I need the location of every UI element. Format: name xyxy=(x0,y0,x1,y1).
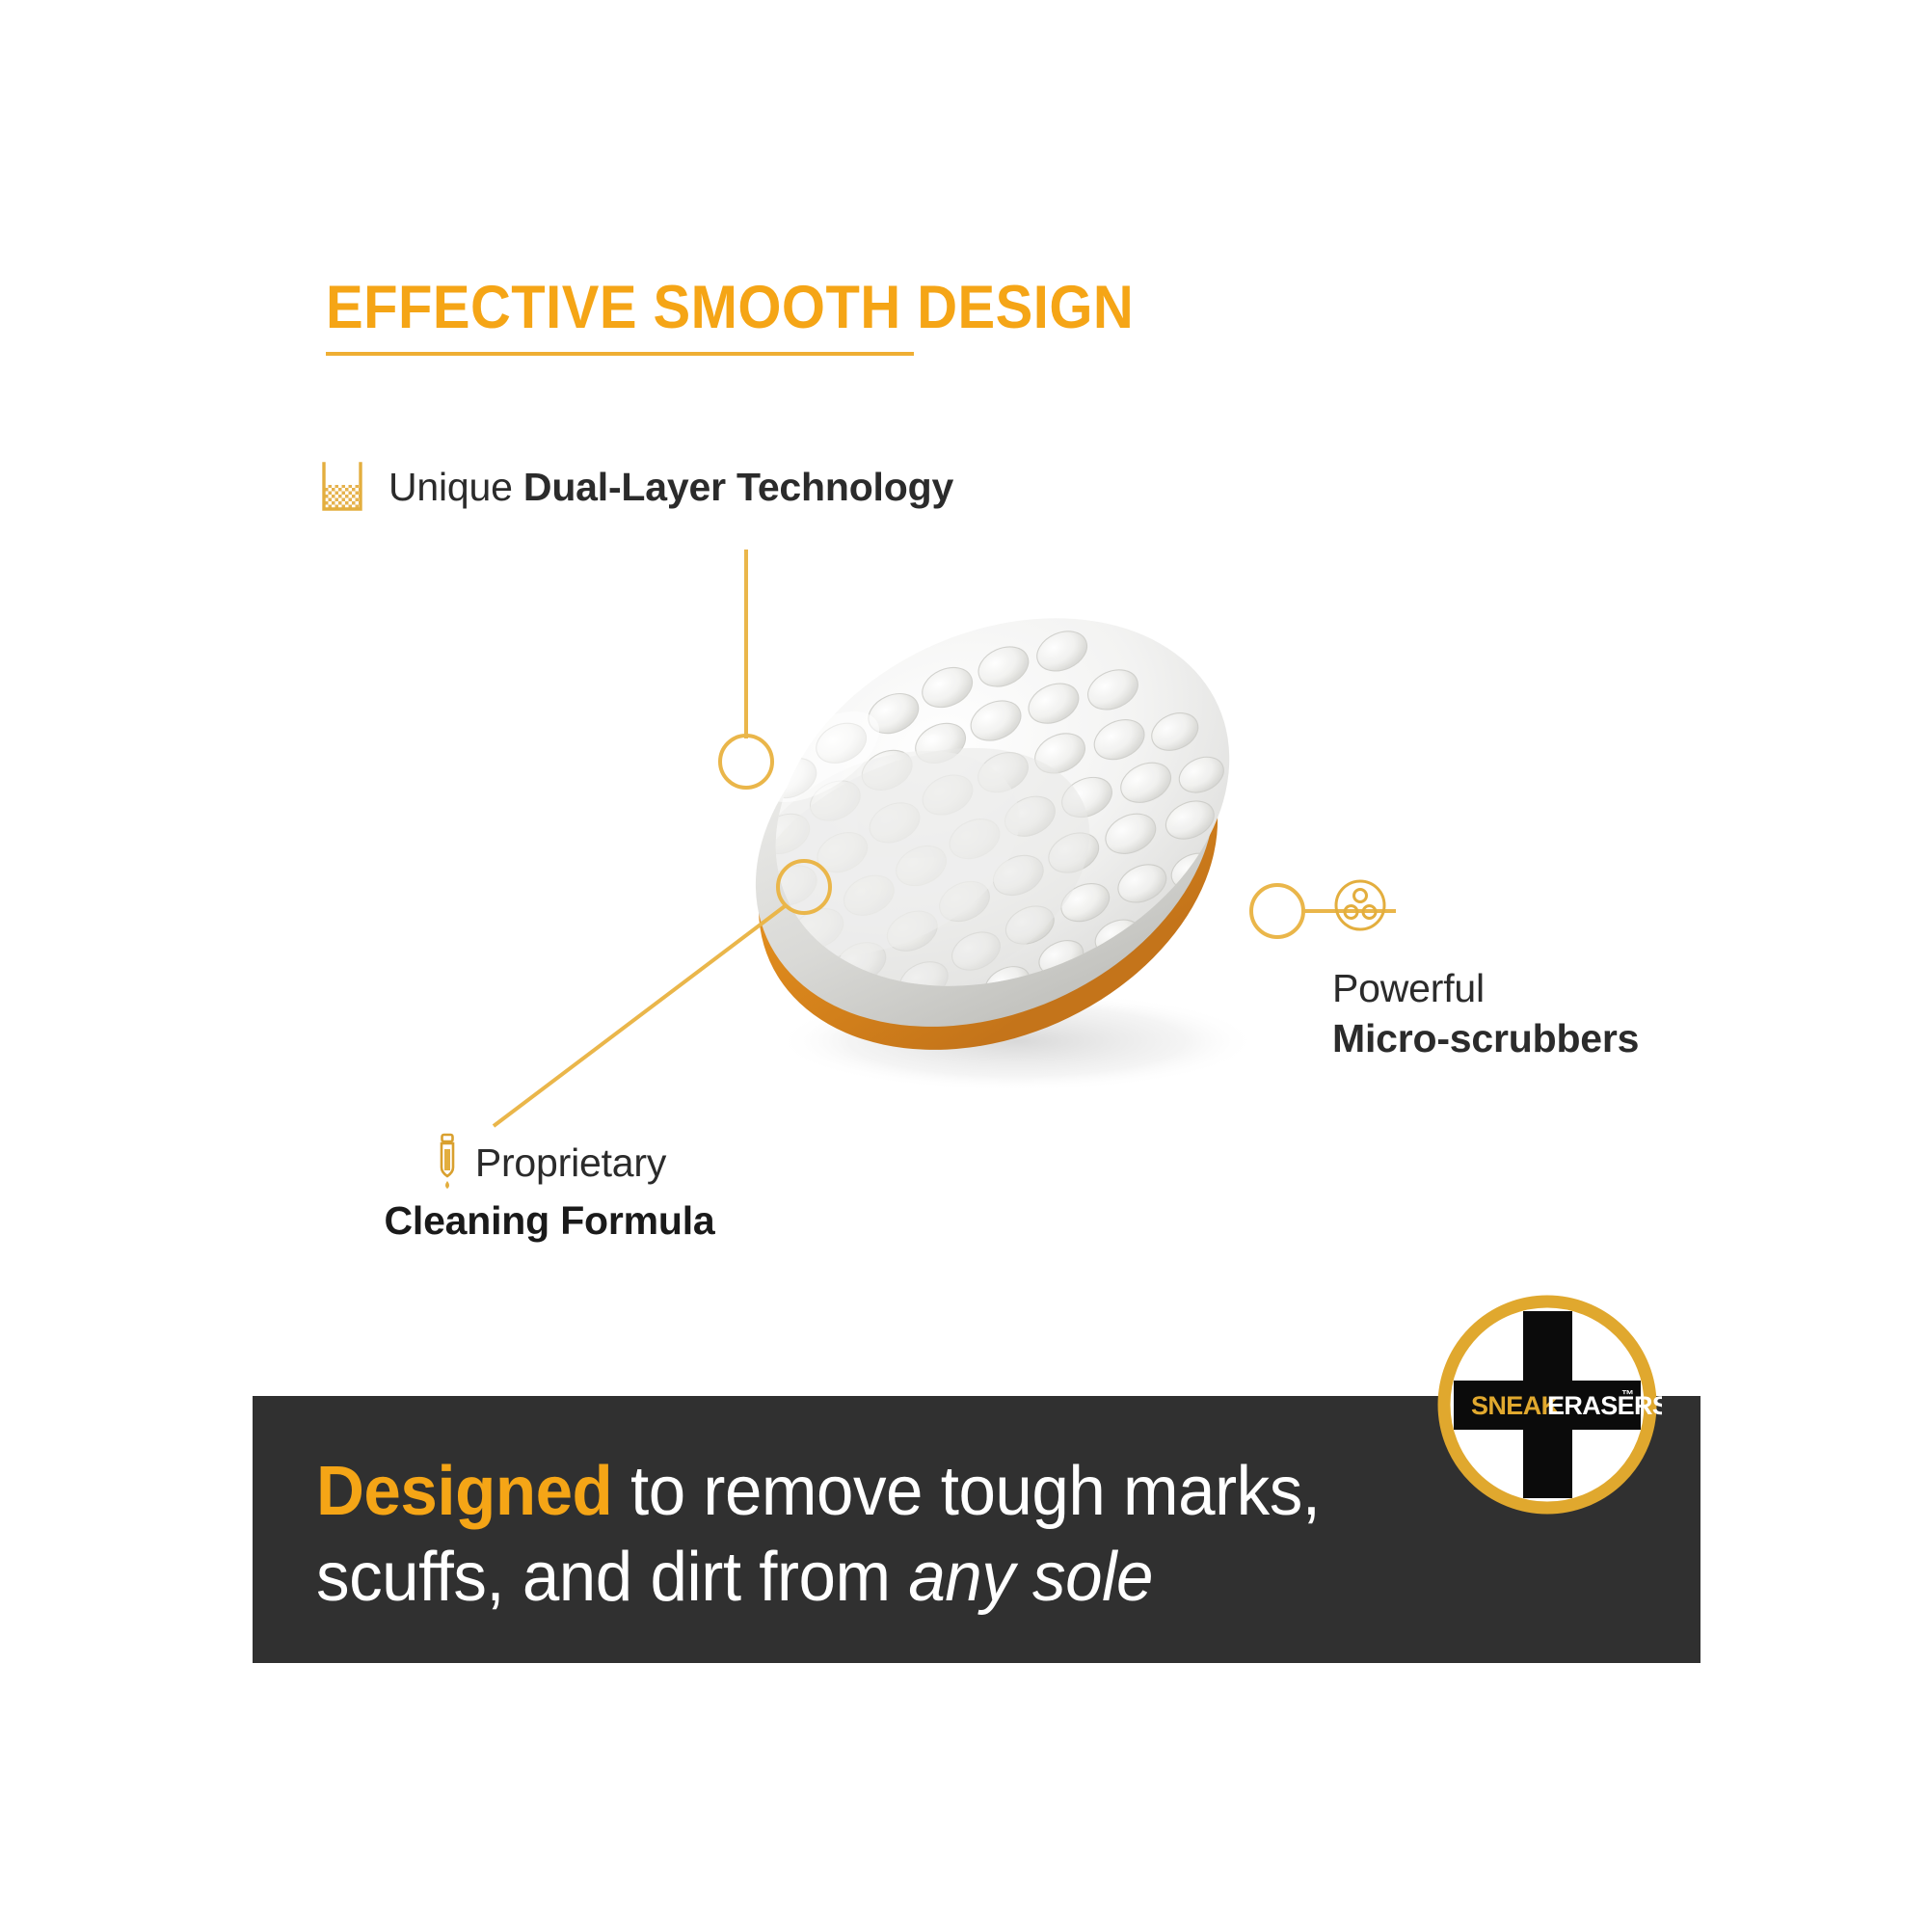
feature-formula-bold: Cleaning Formula xyxy=(347,1198,752,1244)
bubbles-circle-icon xyxy=(1332,877,1388,933)
tagline-line1-rest: to remove tough marks, xyxy=(612,1453,1320,1530)
tagline-line2-italic: any sole xyxy=(908,1539,1153,1616)
feature-micro-scrubbers: Powerful Micro-scrubbers xyxy=(1332,877,1718,1064)
tagline-highlight: Designed xyxy=(316,1453,612,1530)
feature-cleaning-formula: Proprietary Cleaning Formula xyxy=(347,1133,752,1244)
connector-formula xyxy=(494,906,785,1126)
anchor-ring-dual-layer xyxy=(720,736,772,788)
anchor-ring-formula xyxy=(778,861,830,913)
feature-formula-plain: Proprietary xyxy=(475,1140,666,1186)
tagline-line2-start: scuffs, and dirt from xyxy=(316,1539,908,1616)
infographic-page: EFFECTIVE SMOOTH DESIGN xyxy=(0,0,1928,1932)
feature-dual-layer-label: Unique Dual-Layer Technology xyxy=(388,465,953,510)
headline-underline xyxy=(326,352,914,356)
feature-micro-scrubbers-label: Powerful Micro-scrubbers xyxy=(1332,963,1718,1064)
feature-dual-layer: Unique Dual-Layer Technology xyxy=(318,461,953,513)
dropper-icon xyxy=(433,1133,462,1193)
logo-trademark: ™ xyxy=(1621,1387,1634,1402)
beaker-checker-icon xyxy=(318,461,366,513)
anchor-ring-micro xyxy=(1251,885,1303,937)
tagline-text: Designed to remove tough marks, scuffs, … xyxy=(316,1449,1455,1622)
page-title: EFFECTIVE SMOOTH DESIGN xyxy=(326,278,1134,338)
feature-dual-layer-plain: Unique xyxy=(388,465,523,509)
product-image xyxy=(675,588,1311,1128)
feature-micro-bold: Micro-scrubbers xyxy=(1332,1013,1718,1063)
feature-dual-layer-bold: Dual-Layer Technology xyxy=(523,465,953,509)
logo-word-white: ERASERS xyxy=(1547,1391,1662,1420)
feature-micro-plain: Powerful xyxy=(1332,963,1718,1013)
headline-block: EFFECTIVE SMOOTH DESIGN xyxy=(326,278,1204,356)
sneakerasers-logo: SNEAK ERASERS ™ xyxy=(1433,1290,1662,1519)
